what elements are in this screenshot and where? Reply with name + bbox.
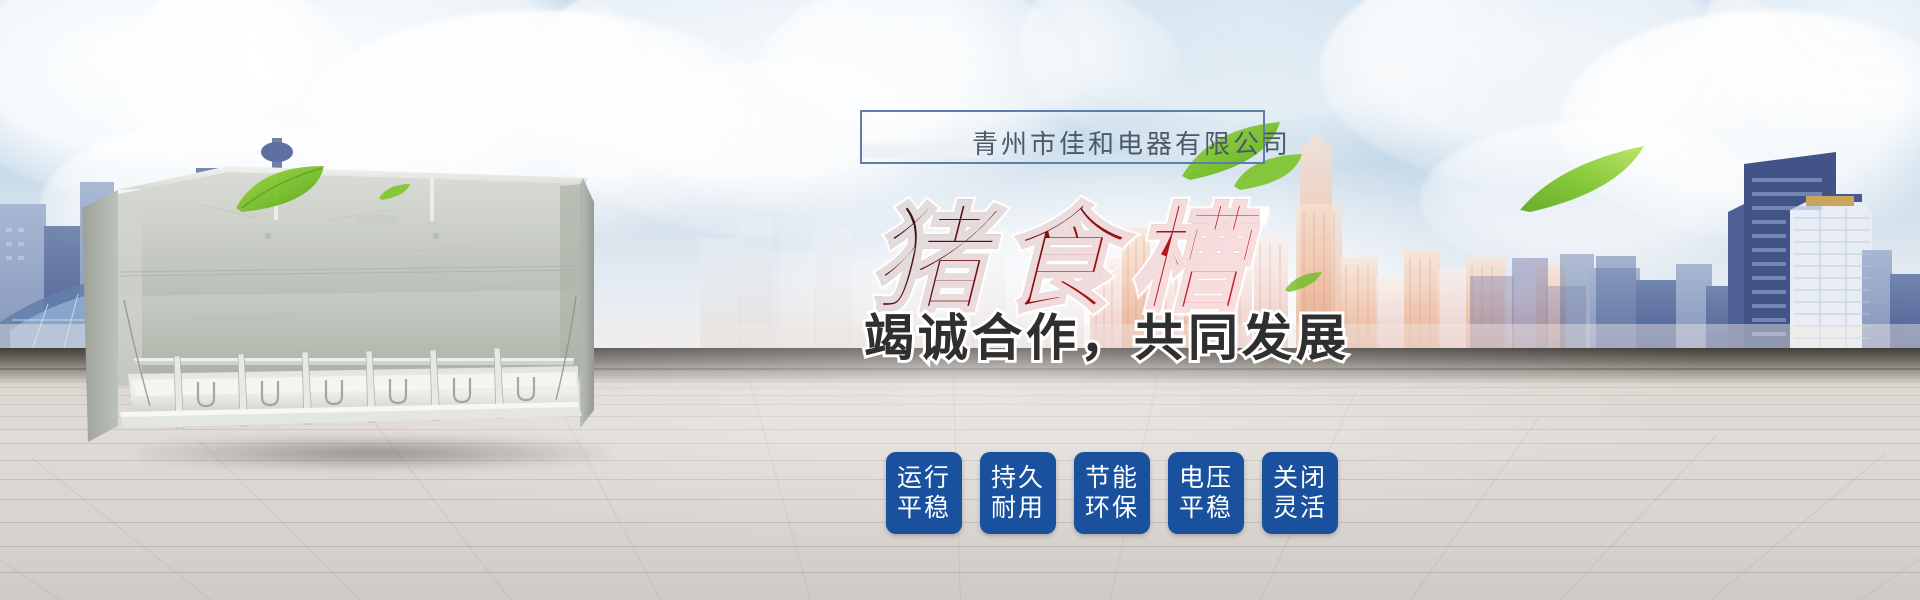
badge-eco[interactable]: 节能环保	[1074, 452, 1150, 534]
leaf-icon	[378, 182, 412, 202]
company-name-frame-notch	[862, 140, 980, 158]
company-name: 青州市佳和电器有限公司	[972, 124, 1291, 161]
badge-voltage-stable[interactable]: 电压平稳	[1168, 452, 1244, 534]
badge-line-1: 持久	[991, 463, 1045, 494]
badge-line-2: 灵活	[1273, 493, 1327, 524]
badge-line-1: 电压	[1179, 463, 1233, 494]
leaf-icon	[232, 160, 342, 220]
badge-line-2: 平稳	[1179, 493, 1233, 524]
feature-badge-list: 运行平稳持久耐用节能环保电压平稳关闭灵活	[886, 452, 1338, 534]
badge-line-1: 节能	[1085, 463, 1139, 494]
badge-line-2: 耐用	[991, 493, 1045, 524]
badge-line-1: 关闭	[1273, 463, 1327, 494]
badge-flexible-close[interactable]: 关闭灵活	[1262, 452, 1338, 534]
badge-durable[interactable]: 持久耐用	[980, 452, 1056, 534]
promo-banner: 青州市佳和电器有限公司 猪食槽 猪食槽 竭诚合作，共同发展 竭诚合作，共同发展 …	[0, 0, 1920, 600]
badge-stable-operation[interactable]: 运行平稳	[886, 452, 962, 534]
badge-line-2: 环保	[1085, 493, 1139, 524]
badge-line-1: 运行	[897, 463, 951, 494]
badge-line-2: 平稳	[897, 493, 951, 524]
sub-title: 竭诚合作，共同发展	[864, 298, 1350, 370]
